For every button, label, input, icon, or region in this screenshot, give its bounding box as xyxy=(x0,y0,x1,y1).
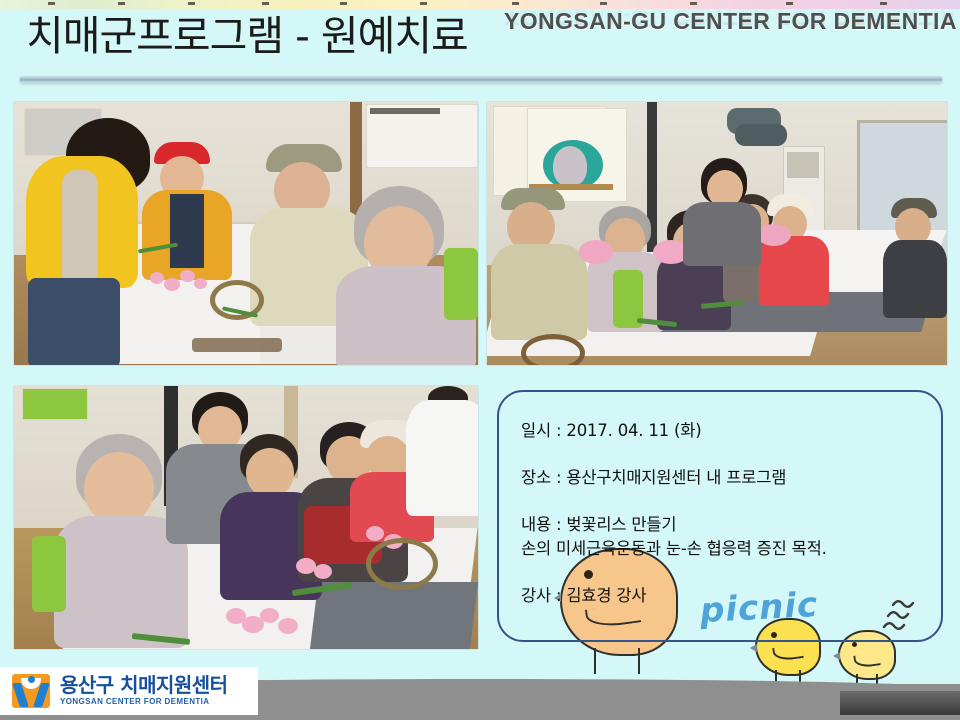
event-info-panel: 일시 : 2017. 04. 11 (화) 장소 : 용산구치매지원센터 내 프… xyxy=(497,390,943,642)
photo-top-right xyxy=(487,102,947,365)
title-divider xyxy=(20,76,942,83)
info-place: 장소 : 용산구치매지원센터 내 프로그램 xyxy=(521,464,786,488)
footer-right-tab xyxy=(840,691,960,715)
photo-top-left xyxy=(14,102,478,365)
page-title: 치매군프로그램 - 원예치료 xyxy=(26,11,468,61)
logo-name-kr: 용산구 치매지원센터 xyxy=(60,675,228,696)
organization-name-header: YONGSAN-GU CENTER FOR DEMENTIA xyxy=(504,8,954,35)
logo-name-en: YONGSAN CENTER FOR DEMENTIA xyxy=(60,698,228,706)
info-content-line2: 손의 미세근육운동과 눈-손 협응력 증진 목적. xyxy=(521,535,827,559)
photo-bottom-left xyxy=(14,386,478,649)
logo-person-icon xyxy=(12,674,50,708)
organization-logo: 용산구 치매지원센터 YONGSAN CENTER FOR DEMENTIA xyxy=(0,667,258,715)
info-content-line1: 내용 : 벚꽃리스 만들기 xyxy=(521,511,676,535)
slide-canvas: 치매군프로그램 - 원예치료 YONGSAN-GU CENTER FOR DEM… xyxy=(0,0,960,720)
info-date: 일시 : 2017. 04. 11 (화) xyxy=(521,417,701,441)
logo-text-block: 용산구 치매지원센터 YONGSAN CENTER FOR DEMENTIA xyxy=(60,675,228,706)
info-teacher: 강사 : 김효경 강사 xyxy=(521,582,646,606)
